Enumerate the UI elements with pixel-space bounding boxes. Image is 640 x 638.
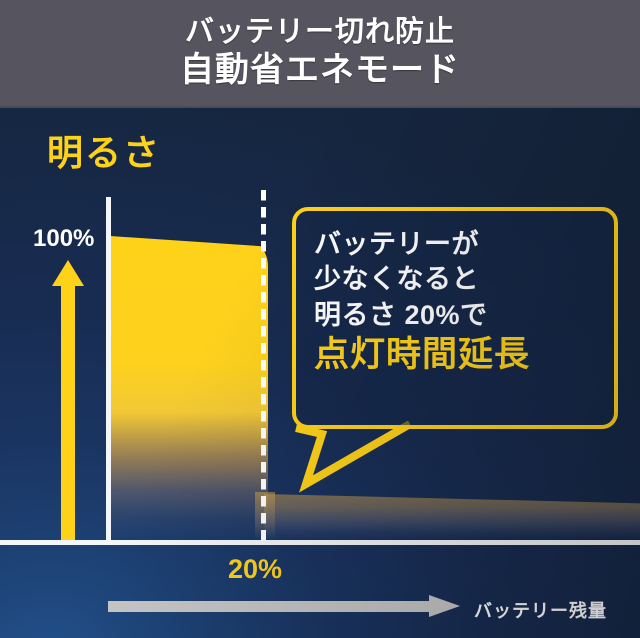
- bubble-emphasis-text: 点灯時間延長: [314, 335, 622, 374]
- arrow-bar: [108, 601, 430, 612]
- x-value-label-20: 20%: [228, 554, 282, 585]
- infographic-root: バッテリー切れ防止 自動省エネモード 明るさ 100% 20% バッテリー残量: [0, 0, 640, 638]
- y-value-label-100: 100%: [33, 225, 94, 253]
- arrow-tip-icon: [429, 595, 460, 617]
- y-axis-title: 明るさ: [47, 124, 161, 176]
- y-axis-arrow-icon: [52, 260, 84, 540]
- brightness-area-eco: [264, 493, 640, 540]
- x-axis-title: バッテリー残量: [474, 597, 607, 623]
- speech-bubble: バッテリーが 少なくなると 明るさ 20%で 点灯時間延長: [292, 207, 618, 429]
- header-title-line1: バッテリー切れ防止: [185, 17, 455, 48]
- y-axis-line: [106, 197, 111, 543]
- chart-panel: 明るさ 100% 20% バッテリー残量 バッテリーが 少なくなると 明るさ 2…: [0, 108, 640, 638]
- bubble-line-2: 少なくなると: [314, 262, 622, 297]
- header-title-line2: 自動省エネモード: [180, 51, 460, 89]
- brightness-area-full: [110, 236, 268, 540]
- bubble-line-3: 明るさ 20%で: [314, 298, 622, 333]
- threshold-dashed-line: [261, 190, 266, 542]
- x-axis-arrow-icon: [108, 595, 460, 617]
- bubble-line-1: バッテリーが: [314, 227, 622, 262]
- header-banner: バッテリー切れ防止 自動省エネモード: [0, 0, 640, 108]
- x-axis-line: [0, 540, 640, 545]
- arrow-shaft: [61, 282, 75, 540]
- speech-bubble-content: バッテリーが 少なくなると 明るさ 20%で 点灯時間延長: [296, 211, 622, 433]
